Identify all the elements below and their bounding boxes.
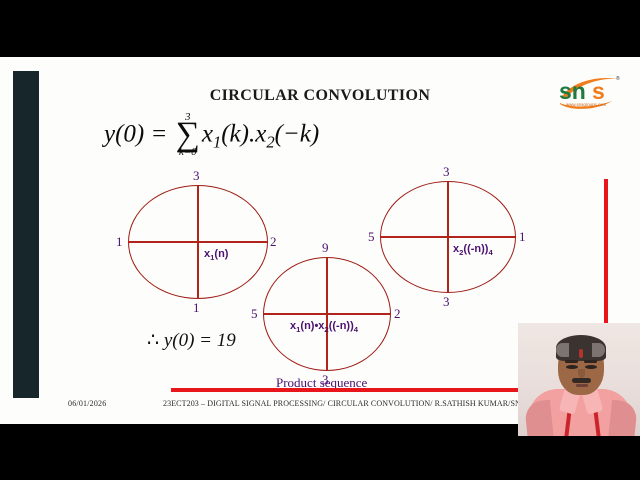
therefore-symbol: ∴ — [147, 330, 159, 351]
presenter-mustache — [572, 378, 591, 383]
slide-right-accent-bar — [604, 179, 608, 327]
circle-label-tail2: ((-n)) — [329, 320, 354, 332]
circle-diagram-product: 9 5 2 3 x1(n)•x2((-n))4 Product sequence — [263, 257, 391, 371]
svg-text:sn: sn — [559, 78, 586, 104]
presenter-hair-gray-right — [592, 343, 605, 357]
circle-node-left: 5 — [368, 230, 375, 243]
presenter-eye-right — [585, 365, 597, 369]
circle-label-tail: ((-n)) — [463, 243, 488, 255]
circle-node-right: 2 — [270, 235, 277, 248]
circle-diagram-x1n: 3 1 2 1 x1(n) — [128, 185, 268, 299]
result-text: y(0) = 19 — [164, 330, 236, 351]
circle-node-top: 9 — [322, 241, 329, 254]
result-equation: ∴ y(0) = 19 — [147, 329, 236, 352]
footer-divider — [171, 388, 520, 392]
circle-node-top: 3 — [193, 169, 200, 182]
circle-node-left: 5 — [251, 307, 258, 320]
presenter-eyebrow-left — [565, 360, 578, 363]
presenter-forehead-mark — [579, 349, 583, 358]
circle-node-left: 1 — [116, 235, 123, 248]
circle-node-bottom: 3 — [443, 295, 450, 308]
presenter-eyebrow-right — [584, 360, 597, 363]
sigma-icon: ∑ — [176, 121, 200, 149]
circle-node-top: 3 — [443, 165, 450, 178]
circle-label-x2-neg-n: x2((-n))4 — [453, 244, 493, 257]
formula-term-1-base: x — [202, 121, 213, 148]
circle-vertical-axis — [326, 257, 328, 371]
circle-label-tail: (n)•x — [300, 320, 324, 332]
summation-operator: 3 ∑ k=0 — [176, 112, 200, 158]
summation-lower-limit: k=0 — [179, 147, 197, 158]
formula-lhs: y(0) = — [104, 121, 167, 148]
slide-left-accent-bar — [13, 71, 39, 398]
circle-vertical-axis — [197, 185, 199, 299]
sns-logo: sn s ® www.snsgroups.com — [556, 71, 622, 111]
formula-term-1-arg: (k). — [221, 121, 255, 148]
presenter-eye-left — [566, 365, 578, 369]
presenter-nose — [578, 369, 585, 378]
letterbox-top — [0, 0, 640, 57]
circle-diagram-x2-neg-n: 3 5 1 3 x2((-n))4 — [380, 181, 516, 293]
circle-node-right: 2 — [394, 307, 401, 320]
circle-vertical-axis — [447, 181, 449, 293]
page-title: CIRCULAR CONVOLUTION — [0, 87, 640, 105]
video-player-frame: CIRCULAR CONVOLUTION sn s ® www.snsgroup… — [0, 0, 640, 480]
circle-label-modulo: 4 — [354, 325, 358, 334]
presenter-mouth — [576, 384, 588, 387]
footer-course-info: 23ECT203 – DIGITAL SIGNAL PROCESSING/ CI… — [163, 399, 536, 408]
svg-text:s: s — [592, 78, 605, 104]
circle-label-tail: (n) — [214, 248, 228, 260]
footer-date: 06/01/2026 — [68, 399, 106, 408]
formula-term-2-sub: 2 — [266, 133, 274, 152]
circle-label-product: x1(n)•x2((-n))4 — [290, 321, 358, 334]
presenter-webcam-overlay[interactable] — [518, 323, 640, 436]
circle-node-right: 1 — [519, 230, 526, 243]
presenter-hair-gray-left — [556, 343, 569, 357]
svg-text:®: ® — [616, 75, 620, 82]
formula-term-1-sub: 1 — [213, 133, 221, 152]
formula-summation: y(0) = 3 ∑ k=0 x1(k).x2(−k) — [104, 113, 319, 159]
circle-label-x1n: x1(n) — [204, 249, 228, 262]
circle-node-bottom: 1 — [193, 301, 200, 314]
sns-logo-icon: sn s ® www.snsgroups.com — [556, 71, 622, 111]
formula-term-2-arg: (−k) — [275, 121, 320, 148]
circle-label-modulo: 4 — [488, 248, 492, 257]
formula-term-2-base: x — [255, 121, 266, 148]
sns-logo-url: www.snsgroups.com — [566, 102, 607, 107]
